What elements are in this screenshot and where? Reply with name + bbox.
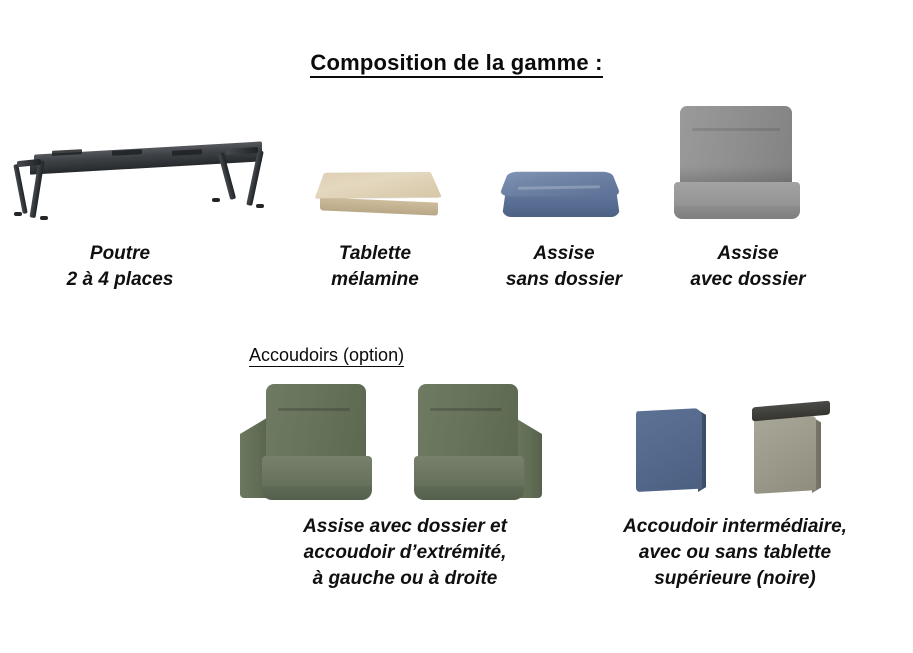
caption-tablette-melamine: Tablette mélamine: [300, 241, 450, 293]
product-image-tablette-melamine: [312, 160, 444, 222]
backrest-seam: [278, 408, 350, 411]
armrest-face-panel: [636, 408, 702, 492]
product-image-assise-accoudoir-droite: [392, 382, 542, 504]
backrest-seam: [692, 128, 780, 131]
page-title: Composition de la gamme :: [0, 50, 913, 76]
cushion-top-surface: [499, 172, 621, 197]
section-title-accoudoirs: Accoudoirs (option): [249, 345, 404, 366]
backrest-panel: [418, 384, 518, 462]
product-image-poutre: [12, 140, 280, 232]
seat-front-edge: [674, 206, 800, 219]
seat-front-edge: [414, 486, 524, 500]
caption-poutre: Poutre 2 à 4 places: [20, 241, 220, 293]
beam-leg-left-rear: [13, 164, 27, 214]
product-image-assise-accoudoir-gauche: [240, 382, 390, 504]
beam-foot: [212, 198, 220, 202]
product-image-assise-sans-dossier: [498, 160, 626, 222]
armrest-face-panel: [754, 416, 816, 494]
product-image-accoudoir-intermediaire-avec-tablette: [748, 404, 834, 500]
beam-foot: [14, 212, 22, 216]
beam-foot: [256, 204, 264, 208]
melamine-top-surface: [315, 172, 442, 199]
melamine-edge: [320, 197, 438, 215]
backrest-seam: [430, 408, 502, 411]
product-image-assise-avec-dossier: [672, 106, 802, 224]
product-image-accoudoir-intermediaire-sans-tablette: [632, 404, 710, 500]
caption-assise-accoudoir-extremite: Assise avec dossier et accoudoir d’extré…: [267, 514, 543, 593]
section-title-text: Accoudoirs (option): [249, 345, 404, 367]
page-title-text: Composition de la gamme :: [310, 50, 602, 78]
caption-assise-avec-dossier: Assise avec dossier: [660, 241, 836, 293]
backrest-panel: [266, 384, 366, 462]
caption-assise-sans-dossier: Assise sans dossier: [478, 241, 650, 293]
caption-accoudoir-intermediaire: Accoudoir intermédiaire, avec ou sans ta…: [596, 514, 874, 593]
seat-front-edge: [262, 486, 372, 500]
beam-foot: [40, 216, 48, 220]
